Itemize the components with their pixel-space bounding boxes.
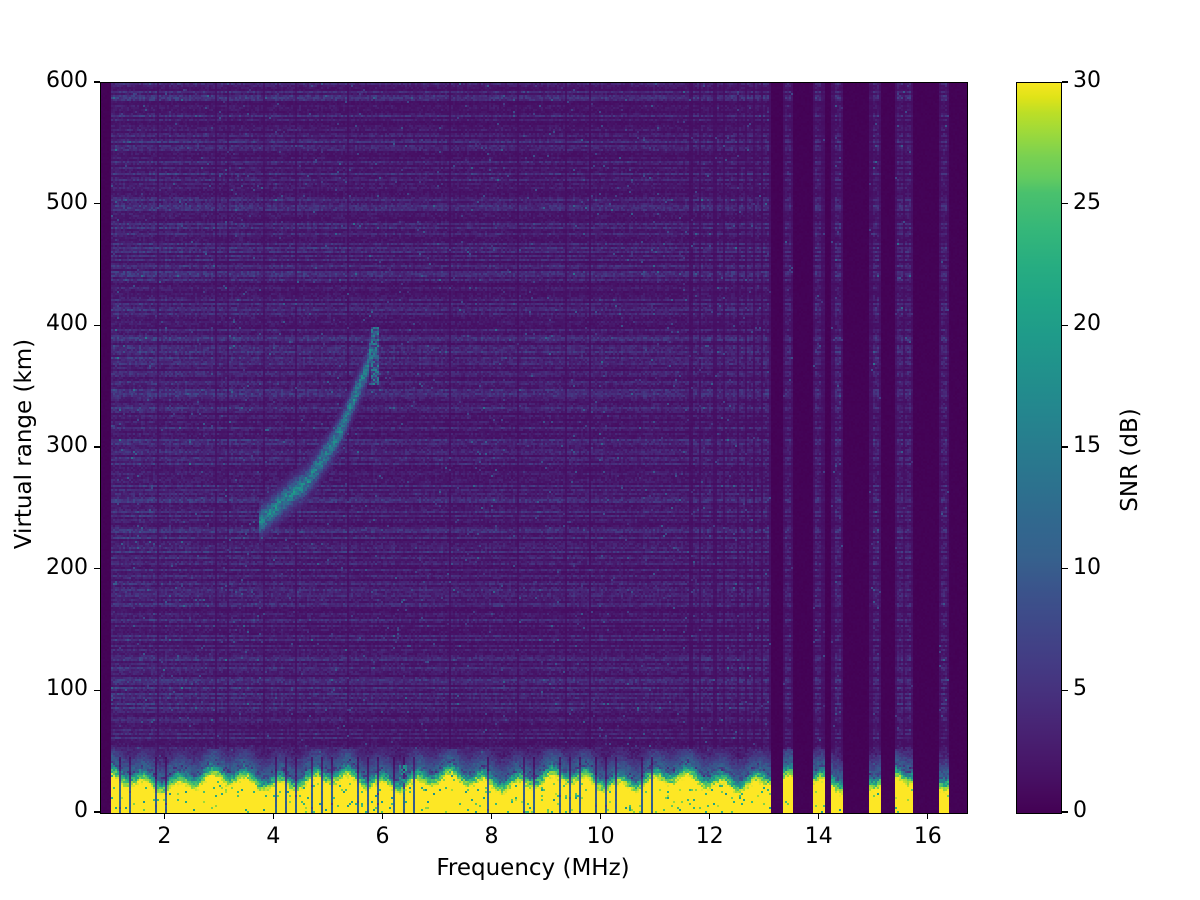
snr-colorbar bbox=[1016, 82, 1062, 814]
colorbar-tick-label: 30 bbox=[1073, 68, 1101, 93]
y-tick-mark bbox=[94, 81, 100, 82]
colorbar-tick-mark bbox=[1062, 446, 1068, 447]
colorbar-label: SNR (dB) bbox=[1117, 330, 1143, 590]
x-tick-mark bbox=[164, 813, 165, 819]
y-tick-mark bbox=[94, 203, 100, 204]
colorbar-tick-label: 20 bbox=[1073, 311, 1101, 336]
colorbar-tick-mark bbox=[1062, 568, 1068, 569]
x-tick-label: 2 bbox=[124, 824, 204, 849]
colorbar-tick-mark bbox=[1062, 81, 1068, 82]
x-tick-label: 12 bbox=[670, 824, 750, 849]
colorbar-tick-label: 25 bbox=[1073, 190, 1101, 215]
y-tick-label: 600 bbox=[20, 68, 88, 93]
x-tick-mark bbox=[491, 813, 492, 819]
colorbar-tick-mark bbox=[1062, 690, 1068, 691]
x-tick-label: 4 bbox=[233, 824, 313, 849]
x-tick-label: 16 bbox=[888, 824, 968, 849]
y-axis-label: Virtual range (km) bbox=[11, 314, 37, 574]
y-tick-mark bbox=[94, 811, 100, 812]
colorbar-tick-mark bbox=[1062, 811, 1068, 812]
colorbar-tick-label: 10 bbox=[1073, 555, 1101, 580]
ionogram-figure: IRF Kiruna Ionosonde KI167 2026-03-04 13… bbox=[0, 0, 1200, 900]
x-tick-mark bbox=[382, 813, 383, 819]
x-tick-mark bbox=[818, 813, 819, 819]
colorbar-tick-label: 5 bbox=[1073, 676, 1087, 701]
x-tick-mark bbox=[273, 813, 274, 819]
colorbar-tick-label: 0 bbox=[1073, 798, 1087, 823]
y-tick-label: 0 bbox=[20, 798, 88, 823]
y-tick-mark bbox=[94, 446, 100, 447]
x-tick-mark bbox=[600, 813, 601, 819]
heatmap-plot-area bbox=[100, 82, 968, 814]
y-tick-label: 500 bbox=[20, 190, 88, 215]
colorbar-tick-mark bbox=[1062, 203, 1068, 204]
colorbar-tick-mark bbox=[1062, 325, 1068, 326]
x-tick-label: 14 bbox=[779, 824, 859, 849]
x-tick-mark bbox=[927, 813, 928, 819]
x-axis-label: Frequency (MHz) bbox=[100, 855, 966, 881]
y-tick-mark bbox=[94, 325, 100, 326]
y-tick-mark bbox=[94, 690, 100, 691]
y-tick-mark bbox=[94, 568, 100, 569]
x-tick-label: 10 bbox=[561, 824, 641, 849]
y-tick-label: 100 bbox=[20, 676, 88, 701]
x-tick-mark bbox=[709, 813, 710, 819]
colorbar-tick-label: 15 bbox=[1073, 433, 1101, 458]
x-tick-label: 6 bbox=[342, 824, 422, 849]
x-tick-label: 8 bbox=[452, 824, 532, 849]
ionogram-heatmap bbox=[101, 83, 967, 813]
